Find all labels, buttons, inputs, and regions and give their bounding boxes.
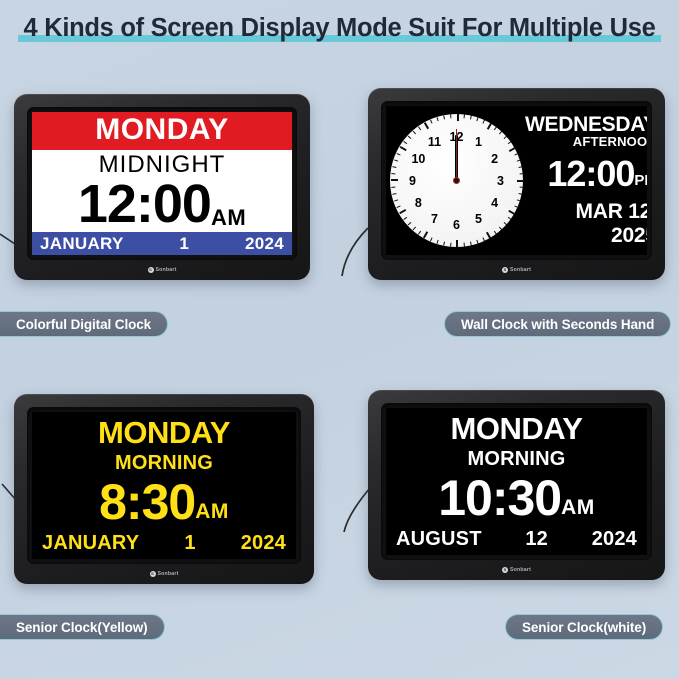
clock1-date-bar: JANUARY 1 2024 (32, 232, 292, 255)
clock4-day: 12 (525, 528, 548, 551)
brand-name: Sonbart (510, 267, 531, 273)
clock-numeral: 1 (471, 136, 487, 149)
brand-name: Sonbart (156, 267, 177, 273)
clock-device-senior-white[interactable]: MONDAY MORNING 10:30 AM AUGUST 12 2024 S… (368, 390, 665, 580)
page-title-text: 4 Kinds of Screen Display Mode Suit For … (24, 14, 656, 42)
clock4-date-row: AUGUST 12 2024 (394, 528, 639, 551)
clock2-time: 12:00 (547, 157, 634, 191)
caption-senior-clock-yellow: Senior Clock(Yellow) (0, 614, 165, 640)
caption-senior-clock-white: Senior Clock(white) (505, 614, 663, 640)
clock1-meridiem: AM (211, 207, 246, 231)
clock1-month: JANUARY (40, 234, 124, 254)
page-title: 4 Kinds of Screen Display Mode Suit For … (0, 14, 679, 43)
clock-numeral: 12 (449, 130, 465, 143)
clock4-year: 2024 (592, 528, 637, 551)
clock1-inner-bezel: MONDAY MIDNIGHT 12:00 AM JANUARY 1 2024 (27, 107, 297, 260)
clock4-screen: MONDAY MORNING 10:30 AM AUGUST 12 2024 (386, 408, 647, 555)
clock3-month: JANUARY (42, 532, 139, 555)
clock2-brand-logo: S Sonbart (368, 258, 665, 276)
clock3-date-row: JANUARY 1 2024 (40, 532, 288, 555)
caption-wall-clock: Wall Clock with Seconds Hand (444, 311, 671, 337)
clock4-brand-logo: S Sonbart (368, 558, 665, 576)
clock4-day-of-week: MONDAY (394, 413, 639, 446)
clock3-day-of-week: MONDAY (40, 417, 288, 450)
clock3-time: 8:30 (99, 479, 195, 527)
clock2-time-row: 12:00 PM (525, 157, 647, 191)
clock-tick (391, 180, 458, 181)
clock1-year: 2024 (245, 234, 284, 254)
clock-numeral: 5 (471, 212, 487, 225)
clock-numeral: 9 (405, 174, 421, 187)
clock3-time-row: 8:30 AM (40, 479, 288, 527)
clock1-day-of-week: MONDAY (32, 112, 292, 150)
clock3-brand-logo: S Sonbart (14, 562, 314, 580)
clock2-day-of-week: WEDNESDAY (525, 114, 647, 135)
clock2-inner-bezel: 123456789101112 WEDNESDAY AFTERNOON 12:0… (381, 101, 652, 260)
clock-numeral: 8 (410, 196, 426, 209)
clock4-time-row: 10:30 AM (394, 475, 639, 523)
clock-device-senior-yellow[interactable]: MONDAY MORNING 8:30 AM JANUARY 1 2024 S … (14, 394, 314, 584)
brand-mark-icon: S (148, 267, 154, 273)
clock1-time: 12:00 (78, 179, 211, 231)
clock2-part-of-day: AFTERNOON (525, 134, 647, 149)
brand-name: Sonbart (158, 571, 179, 577)
clock-numeral: 2 (487, 152, 503, 165)
clock2-text-column: WEDNESDAY AFTERNOON 12:00 PM MAR 12, 202… (523, 114, 647, 248)
clock4-inner-bezel: MONDAY MORNING 10:30 AM AUGUST 12 2024 (381, 403, 652, 560)
clock2-meridiem: PM (634, 172, 647, 191)
clock1-day: 1 (179, 234, 189, 254)
clock3-meridiem: AM (195, 500, 229, 527)
clock-device-wall-clock[interactable]: 123456789101112 WEDNESDAY AFTERNOON 12:0… (368, 88, 665, 280)
clock-numeral: 6 (449, 218, 465, 231)
clock4-part-of-day: MORNING (394, 449, 639, 470)
clock4-time: 10:30 (438, 475, 561, 523)
clock-numeral: 4 (487, 196, 503, 209)
brand-mark-icon: S (150, 571, 156, 577)
clock3-screen: MONDAY MORNING 8:30 AM JANUARY 1 2024 (32, 412, 296, 559)
clock2-screen: 123456789101112 WEDNESDAY AFTERNOON 12:0… (386, 106, 647, 255)
clock3-part-of-day: MORNING (40, 453, 288, 474)
brand-name: Sonbart (510, 567, 531, 573)
clock-device-colorful-digital[interactable]: MONDAY MIDNIGHT 12:00 AM JANUARY 1 2024 … (14, 94, 310, 280)
clock-numeral: 7 (427, 212, 443, 225)
clock2-date: MAR 12, 2025 (525, 200, 647, 248)
clock-numeral: 11 (427, 136, 443, 149)
clock1-brand-logo: S Sonbart (14, 258, 310, 276)
brand-mark-icon: S (502, 567, 508, 573)
clock4-month: AUGUST (396, 528, 482, 551)
clock-numeral: 10 (410, 152, 426, 165)
brand-mark-icon: S (502, 267, 508, 273)
clock3-year: 2024 (241, 532, 286, 555)
analog-clock-face: 123456789101112 (390, 114, 523, 247)
clock-numeral: 3 (493, 174, 509, 187)
clock1-screen: MONDAY MIDNIGHT 12:00 AM JANUARY 1 2024 (32, 112, 292, 255)
caption-colorful-digital-clock: Colorful Digital Clock (0, 311, 168, 337)
clock3-inner-bezel: MONDAY MORNING 8:30 AM JANUARY 1 2024 (27, 407, 301, 564)
clock1-time-row: 12:00 AM (32, 179, 292, 232)
clock4-meridiem: AM (561, 496, 595, 523)
clock3-day: 1 (184, 532, 195, 555)
